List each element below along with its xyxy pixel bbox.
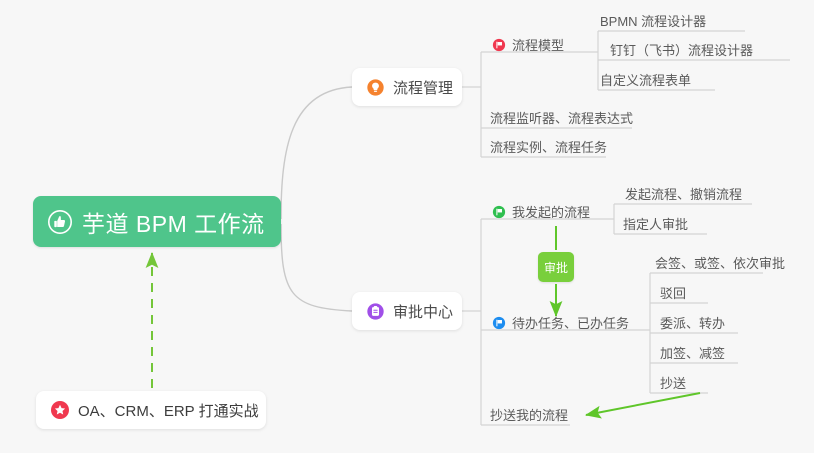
node-label-assignee-approval: 指定人审批 <box>623 217 688 232</box>
node-label-process-listener: 流程监听器、流程表达式 <box>490 111 633 126</box>
node-start-cancel-process[interactable]: 发起流程、撤销流程 <box>625 187 742 205</box>
node-label-start-cancel-process: 发起流程、撤销流程 <box>625 187 742 202</box>
node-process-listener[interactable]: 流程监听器、流程表达式 <box>490 111 633 129</box>
node-label-process-instance: 流程实例、流程任务 <box>490 140 607 155</box>
node-assignee-approval[interactable]: 指定人审批 <box>623 217 688 235</box>
arrow-cc-to-cc-my-process <box>586 393 700 415</box>
thumbs-up-icon <box>47 209 73 235</box>
root-node[interactable]: 芋道 BPM 工作流 <box>33 196 281 247</box>
node-label-reject: 驳回 <box>660 286 686 301</box>
node-delegate-transfer[interactable]: 委派、转办 <box>660 316 725 334</box>
edge-root-to-process-management <box>281 87 352 219</box>
node-label-todo-done-tasks: 待办任务、已办任务 <box>512 316 629 331</box>
node-custom-form[interactable]: 自定义流程表单 <box>600 73 691 91</box>
node-label-delegate-transfer: 委派、转办 <box>660 316 725 331</box>
node-add-remove-sign[interactable]: 加签、减签 <box>660 346 725 364</box>
star-icon <box>50 400 70 420</box>
node-label-dingtalk-designer: 钉钉（飞书）流程设计器 <box>610 43 753 58</box>
flag-icon <box>492 316 506 330</box>
node-label-cc-my-process: 抄送我的流程 <box>490 408 568 423</box>
mindmap-canvas: 芋道 BPM 工作流 OA、CRM、ERP 打通实战 流程管理 <box>0 0 814 453</box>
node-label-countersign: 会签、或签、依次审批 <box>655 256 785 271</box>
root-label: 芋道 BPM 工作流 <box>82 205 265 239</box>
branch-node-process-management[interactable]: 流程管理 <box>352 68 462 106</box>
clipboard-icon <box>366 302 385 321</box>
flag-icon <box>492 38 506 52</box>
node-my-started-process[interactable]: 我发起的流程 <box>492 205 590 223</box>
node-process-model[interactable]: 流程模型 <box>492 38 571 56</box>
node-label-cc: 抄送 <box>660 376 686 391</box>
bottom-note-label: OA、CRM、ERP 打通实战 <box>78 400 259 421</box>
node-label-my-started-process: 我发起的流程 <box>512 205 590 220</box>
flag-icon <box>492 205 506 219</box>
node-label-process-model: 流程模型 <box>512 38 564 53</box>
node-label-add-remove-sign: 加签、减签 <box>660 346 725 361</box>
branch-node-approval-center[interactable]: 审批中心 <box>352 292 462 330</box>
node-countersign[interactable]: 会签、或签、依次审批 <box>655 256 785 274</box>
approve-badge-label: 审批 <box>544 259 568 276</box>
branch-label-process-management: 流程管理 <box>393 77 453 98</box>
node-label-bpmn-designer: BPMN 流程设计器 <box>600 14 706 29</box>
branch-label-approval-center: 审批中心 <box>393 301 453 322</box>
node-bpmn-designer[interactable]: BPMN 流程设计器 <box>600 14 706 32</box>
lightbulb-pin-icon <box>366 78 385 97</box>
bottom-note-node[interactable]: OA、CRM、ERP 打通实战 <box>36 391 266 429</box>
node-cc[interactable]: 抄送 <box>660 376 686 394</box>
node-process-instance[interactable]: 流程实例、流程任务 <box>490 140 607 158</box>
node-dingtalk-designer[interactable]: 钉钉（飞书）流程设计器 <box>610 43 753 61</box>
node-todo-done-tasks[interactable]: 待办任务、已办任务 <box>492 316 629 334</box>
edge-root-to-approval-center <box>281 224 352 311</box>
node-reject[interactable]: 驳回 <box>660 286 686 304</box>
approve-badge: 审批 <box>538 252 574 282</box>
node-cc-my-process[interactable]: 抄送我的流程 <box>490 408 568 426</box>
node-label-custom-form: 自定义流程表单 <box>600 73 691 88</box>
